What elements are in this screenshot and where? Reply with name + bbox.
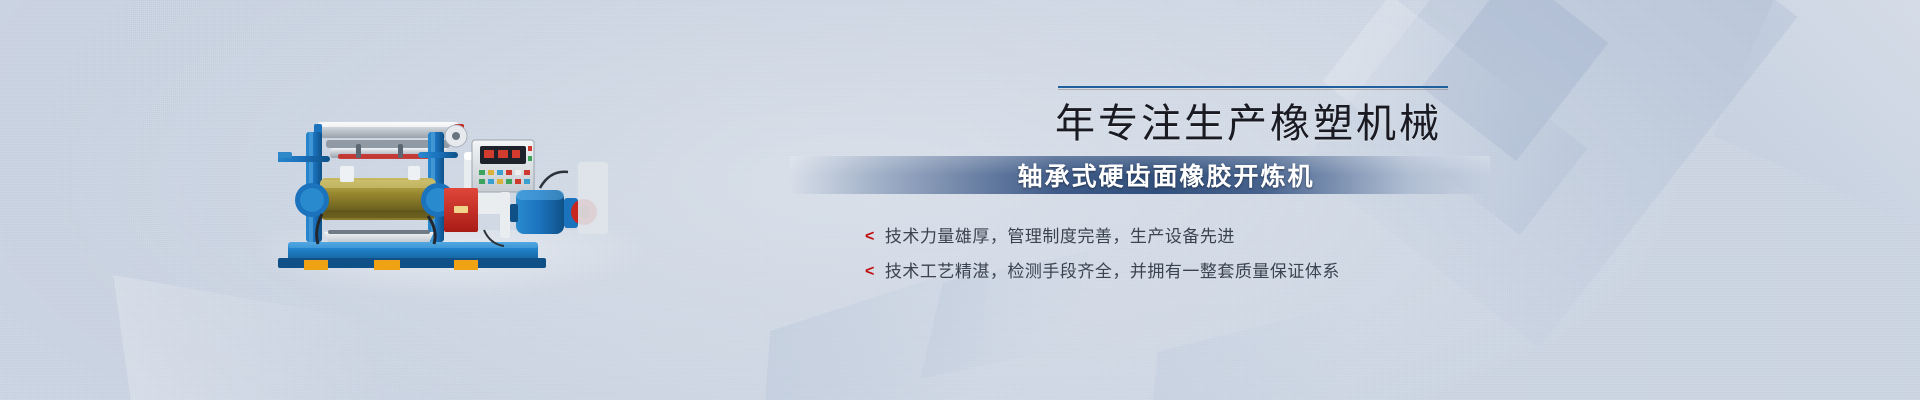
watermark-shape-far-right xyxy=(1713,0,1920,242)
machine-control-panel xyxy=(472,140,534,192)
product-name-bar: 轴承式硬齿面橡胶开炼机 xyxy=(790,156,1490,194)
product-name-text: 轴承式硬齿面橡胶开炼机 xyxy=(790,156,1490,194)
feature-bullet-list: < 技术力量雄厚，管理制度完善，生产设备先进 < 技术工艺精湛，检测手段齐全，并… xyxy=(790,220,1490,290)
feature-bullet-text: 技术工艺精湛，检测手段齐全，并拥有一整套质量保证体系 xyxy=(885,255,1340,289)
banner-copy-block: 年专注生产橡塑机械 轴承式硬齿面橡胶开炼机 < 技术力量雄厚，管理制度完善，生产… xyxy=(790,86,1490,290)
watermark-shape-bottom-left xyxy=(113,275,387,400)
feature-bullet-item: < 技术工艺精湛，检测手段齐全，并拥有一整套质量保证体系 xyxy=(865,255,1490,290)
chevron-left-icon: < xyxy=(865,255,875,289)
headline-rule-shadow-line xyxy=(1058,89,1448,90)
product-image-rubber-mixing-mill xyxy=(278,92,618,272)
feature-bullet-text: 技术力量雄厚，管理制度完善，生产设备先进 xyxy=(885,220,1235,254)
chevron-left-icon: < xyxy=(865,220,875,254)
feature-bullet-item: < 技术力量雄厚，管理制度完善，生产设备先进 xyxy=(865,220,1490,255)
watermark-shape-bottom-right xyxy=(1148,303,1352,400)
headline-rule-blue-line xyxy=(1058,86,1448,88)
machine-main-roller xyxy=(320,178,436,220)
banner-headline: 年专注生产橡塑机械 xyxy=(790,96,1490,152)
promo-banner: 年专注生产橡塑机械 轴承式硬齿面橡胶开炼机 < 技术力量雄厚，管理制度完善，生产… xyxy=(0,0,1920,400)
headline-rule xyxy=(1058,86,1448,92)
